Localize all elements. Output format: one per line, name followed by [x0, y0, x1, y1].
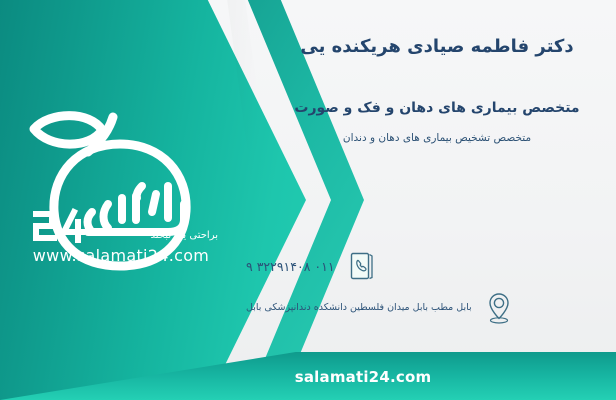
contact-address-row: بابل مطب بابل میدان فلسطین دانشکده دندان… — [246, 290, 596, 326]
clinic-address: بابل مطب بابل میدان فلسطین دانشکده دندان… — [246, 301, 472, 314]
logo-url: www.salamati24.com — [16, 246, 226, 265]
doctor-name: دکتر فاطمه صیادی هریکنده یی — [272, 36, 602, 57]
map-pin-icon — [482, 290, 516, 326]
phone-number: ۰۱۱ ۳۲۲۹۱۴۰۸ ۹ — [246, 259, 335, 274]
phone-book-icon — [345, 248, 379, 284]
footer-site-label[interactable]: salamati24.com — [0, 368, 616, 386]
contact-phone-row: ۰۱۱ ۳۲۲۹۱۴۰۸ ۹ — [246, 248, 596, 284]
doctor-specialty-secondary: متخصص تشخیص بیماری های دهان و دندان — [272, 132, 602, 144]
business-card: براحتی یک لبخند www.salamati24.com دکتر … — [0, 0, 616, 400]
brand-logo: براحتی یک لبخند www.salamati24.com — [16, 108, 226, 278]
logo-tagline: براحتی یک لبخند — [88, 230, 218, 241]
doctor-specialty-primary: متخصص بیماری های دهان و فک و صورت — [272, 100, 602, 116]
